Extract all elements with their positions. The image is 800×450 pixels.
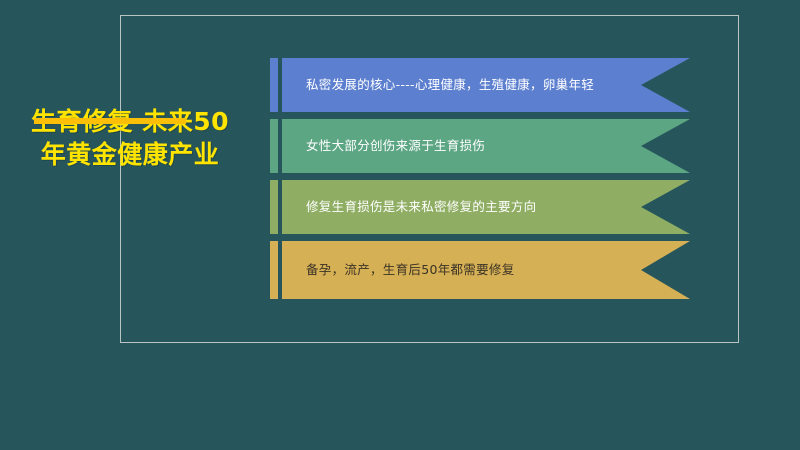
- banner-body-2[interactable]: 女性大部分创伤来源于生育损伤: [282, 119, 690, 173]
- list-item[interactable]: 女性大部分创伤来源于生育损伤: [270, 119, 690, 173]
- title-block: 生育修复 未来50年黄金健康产业: [20, 105, 240, 171]
- banner-label-1: 私密发展的核心----心理健康，生殖健康，卵巢年轻: [306, 76, 594, 94]
- banner-accent-strip-2: [270, 119, 278, 173]
- page-title: 生育修复 未来50年黄金健康产业: [20, 105, 240, 171]
- list-item[interactable]: 私密发展的核心----心理健康，生殖健康，卵巢年轻: [270, 58, 690, 112]
- title-underline-accent: [34, 118, 186, 124]
- banner-body-3[interactable]: 修复生育损伤是未来私密修复的主要方向: [282, 180, 690, 234]
- banner-label-2: 女性大部分创伤来源于生育损伤: [306, 137, 485, 155]
- banner-accent-strip-3: [270, 180, 278, 234]
- banner-label-3: 修复生育损伤是未来私密修复的主要方向: [306, 198, 536, 216]
- list-item[interactable]: 备孕，流产，生育后50年都需要修复: [270, 241, 690, 299]
- list-item[interactable]: 修复生育损伤是未来私密修复的主要方向: [270, 180, 690, 234]
- slide-canvas: 生育修复 未来50年黄金健康产业 私密发展的核心----心理健康，生殖健康，卵巢…: [0, 0, 800, 450]
- banner-accent-strip-4: [270, 241, 278, 299]
- banner-list: 私密发展的核心----心理健康，生殖健康，卵巢年轻 女性大部分创伤来源于生育损伤…: [270, 58, 690, 306]
- banner-accent-strip-1: [270, 58, 278, 112]
- banner-body-1[interactable]: 私密发展的核心----心理健康，生殖健康，卵巢年轻: [282, 58, 690, 112]
- banner-label-4: 备孕，流产，生育后50年都需要修复: [306, 261, 515, 279]
- banner-body-4[interactable]: 备孕，流产，生育后50年都需要修复: [282, 241, 690, 299]
